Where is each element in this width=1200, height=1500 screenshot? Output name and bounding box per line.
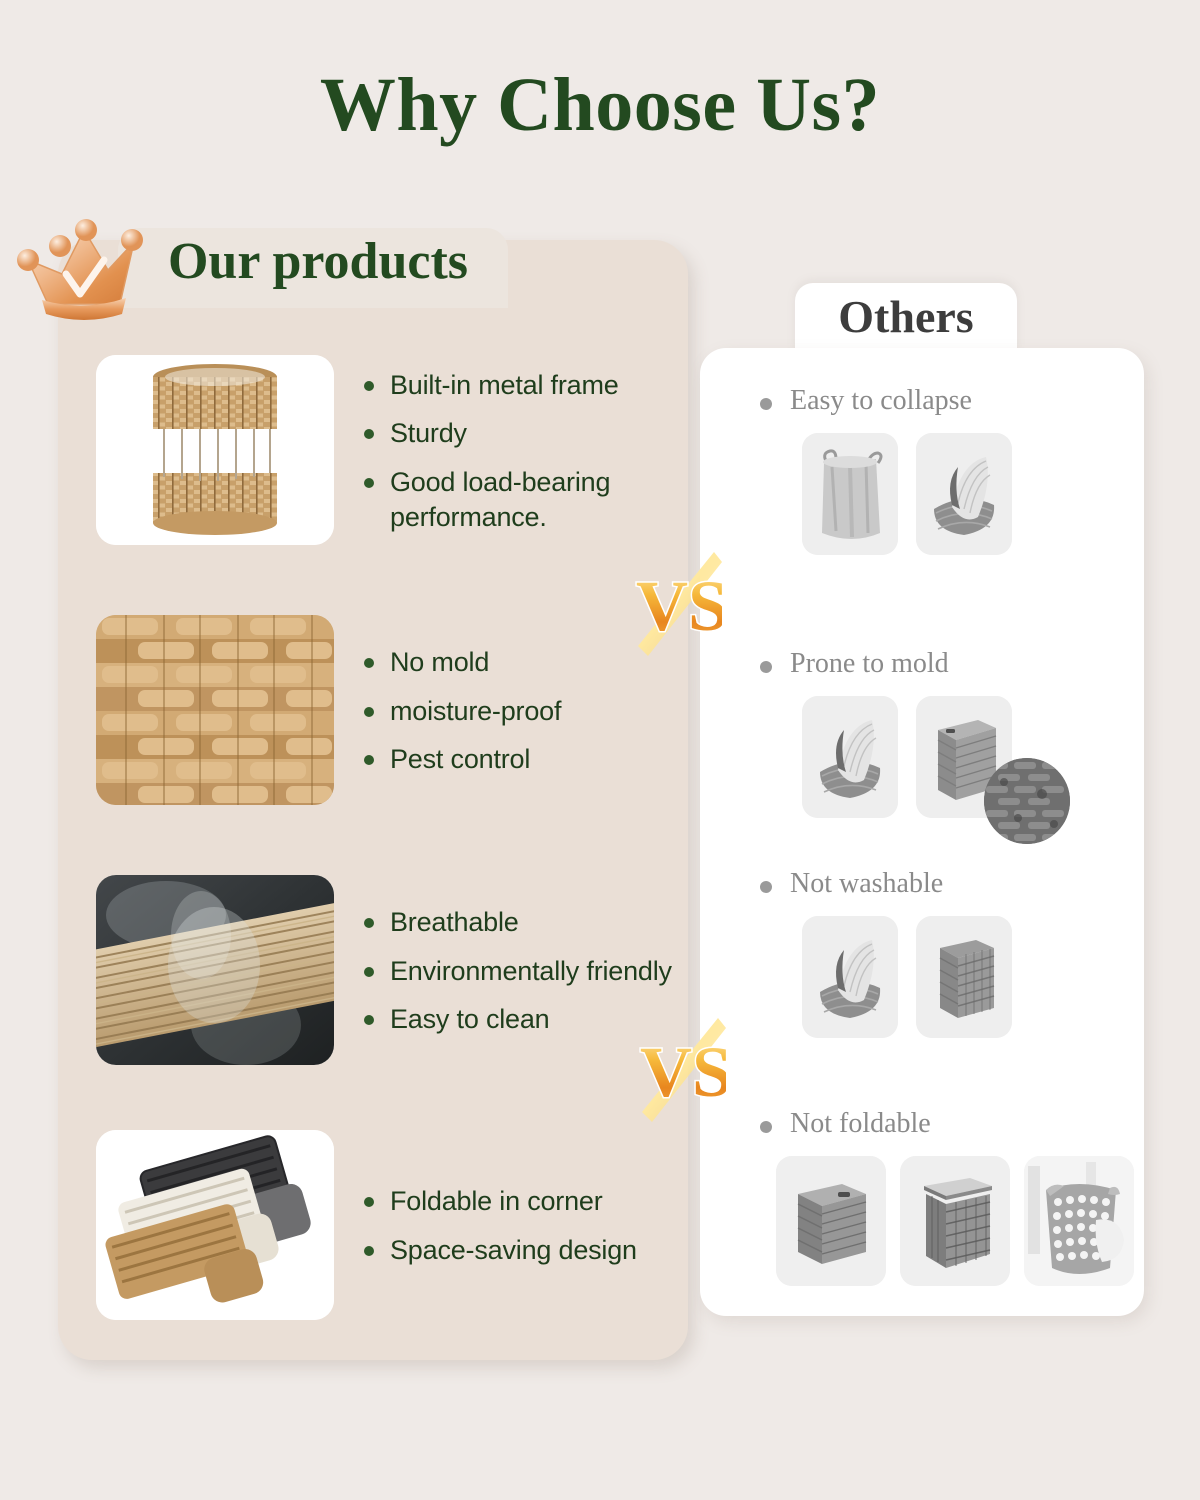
our-products-heading: Our products xyxy=(118,232,518,291)
others-thumb-strip xyxy=(756,433,1136,555)
crown-icon xyxy=(8,208,160,333)
our-feature-row-3: Breathable Environmentally friendly Easy… xyxy=(96,875,676,1065)
folded-woven-baskets-image xyxy=(96,1130,334,1320)
list-item: Built-in metal frame xyxy=(360,368,676,403)
others-thumb-strip xyxy=(756,696,1136,818)
our-feature-bullets-2: No mold moisture-proof Pest control xyxy=(360,643,561,777)
wicker-basket-metal-frame-image xyxy=(96,355,334,545)
list-item: Environmentally friendly xyxy=(360,954,672,989)
list-item: Easy to clean xyxy=(360,1002,672,1037)
gray-basket-collapsed-image xyxy=(916,433,1012,555)
our-feature-row-4: Foldable in corner Space-saving design xyxy=(96,1130,676,1320)
others-group-2: Prone to mold xyxy=(756,648,1136,818)
vs-badge-1: VS xyxy=(630,552,722,656)
others-group-1: Easy to collapse xyxy=(756,385,1136,555)
gray-open-woven-hamper-image xyxy=(900,1156,1010,1286)
gray-hamper-with-lid-image xyxy=(776,1156,886,1286)
our-feature-bullets-1: Built-in metal frame Sturdy Good load-be… xyxy=(360,366,676,534)
woven-rattan-texture-image xyxy=(96,615,334,805)
others-label: Not washable xyxy=(756,868,1136,900)
others-label: Easy to collapse xyxy=(756,385,1136,417)
our-feature-row-2: No mold moisture-proof Pest control xyxy=(96,615,676,805)
vs-badge-2: VS xyxy=(634,1018,726,1122)
page-title: Why Choose Us? xyxy=(0,62,1200,149)
plastic-laundry-basket-image xyxy=(1024,1156,1134,1286)
others-heading: Others xyxy=(795,290,1017,343)
gray-fabric-hamper-image xyxy=(802,433,898,555)
svg-text:VS: VS xyxy=(640,1032,726,1112)
list-item: Space-saving design xyxy=(360,1233,637,1268)
breathable-woven-panel-steam-image xyxy=(96,875,334,1065)
our-feature-bullets-4: Foldable in corner Space-saving design xyxy=(360,1182,637,1267)
list-item: moisture-proof xyxy=(360,694,561,729)
others-thumb-strip xyxy=(756,1156,1136,1286)
our-feature-row-1: Built-in metal frame Sturdy Good load-be… xyxy=(96,355,676,545)
list-item: Breathable xyxy=(360,905,672,940)
list-item: No mold xyxy=(360,645,561,680)
list-item: Sturdy xyxy=(360,416,676,451)
others-group-3: Not washable xyxy=(756,868,1136,1038)
svg-text:VS: VS xyxy=(636,566,722,646)
list-item: Pest control xyxy=(360,742,561,777)
others-label: Prone to mold xyxy=(756,648,1136,680)
gray-woven-hamper-image xyxy=(916,916,1012,1038)
others-group-4: Not foldable xyxy=(756,1108,1136,1286)
our-feature-bullets-3: Breathable Environmentally friendly Easy… xyxy=(360,903,672,1037)
moldy-weave-texture-magnifier xyxy=(984,758,1070,844)
others-thumb-strip xyxy=(756,916,1136,1038)
list-item: Good load-bearing performance. xyxy=(360,465,676,534)
gray-basket-collapsed-image xyxy=(802,696,898,818)
gray-basket-collapsed-image xyxy=(802,916,898,1038)
list-item: Foldable in corner xyxy=(360,1184,637,1219)
others-label: Not foldable xyxy=(756,1108,1136,1140)
